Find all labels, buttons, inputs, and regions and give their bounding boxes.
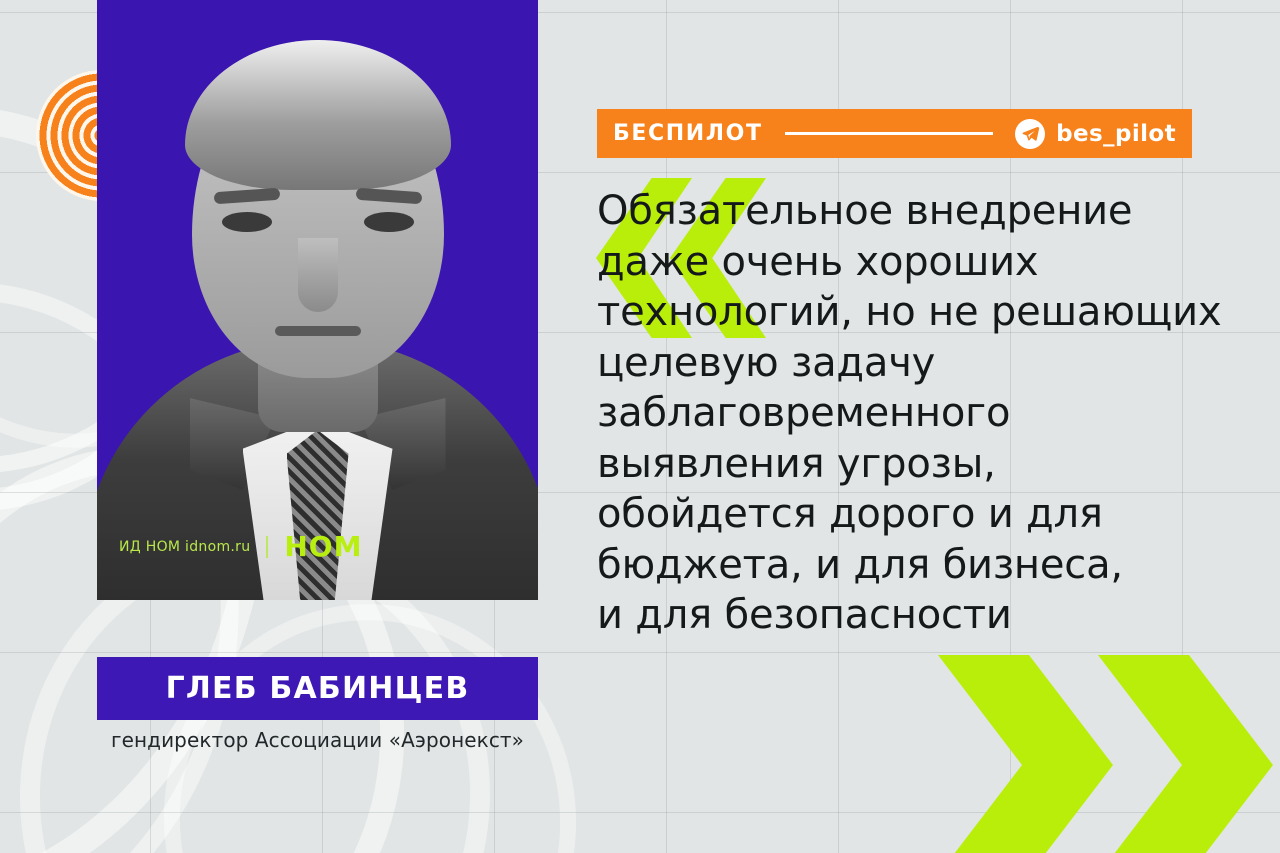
photo-hair	[185, 40, 451, 190]
photo-eye-right	[364, 212, 414, 232]
quote-line: выявления угрозы,	[597, 439, 1222, 490]
telegram-icon	[1015, 119, 1045, 149]
quote-line: технологий, но не решающих	[597, 287, 1222, 338]
brand-title: БЕСПИЛОТ	[613, 121, 763, 146]
quote-line: обойдется дорого и для	[597, 489, 1222, 540]
quote-line: бюджета, и для бизнеса,	[597, 540, 1222, 591]
speaker-name-plate: ГЛЕБ БАБИНЦЕВ	[97, 657, 538, 720]
quote-card: ИД НОМ idnom.ru НОМ ГЛЕБ БАБИНЦЕВ гендир…	[0, 0, 1280, 853]
speaker-photo: ИД НОМ idnom.ru НОМ	[97, 0, 538, 600]
chevron-double-right-icon	[938, 655, 1280, 853]
photo-nose	[298, 238, 338, 312]
photo-eye-left	[222, 212, 272, 232]
quote-line: и для безопасности	[597, 590, 1222, 641]
brand-header-bar: БЕСПИЛОТ bes_pilot	[597, 109, 1192, 158]
brand-divider	[785, 132, 994, 135]
watermark-text: ИД НОМ idnom.ru	[119, 539, 250, 555]
photo-mouth	[275, 326, 361, 336]
watermark-separator	[266, 536, 268, 558]
watermark-logo: НОМ	[284, 530, 362, 563]
quote-text: Обязательное внедрение даже очень хороши…	[597, 186, 1222, 641]
quote-line: Обязательное внедрение	[597, 186, 1222, 237]
quote-line: даже очень хороших	[597, 237, 1222, 288]
telegram-handle: bes_pilot	[1056, 121, 1176, 147]
quote-line: целевую задачу	[597, 338, 1222, 389]
speaker-role: гендиректор Ассоциации «Аэронекст»	[97, 728, 538, 752]
quote-line: заблаговременного	[597, 388, 1222, 439]
watermark: ИД НОМ idnom.ru НОМ	[119, 530, 362, 563]
telegram-link[interactable]: bes_pilot	[1015, 119, 1176, 149]
speaker-name: ГЛЕБ БАБИНЦЕВ	[166, 671, 470, 706]
